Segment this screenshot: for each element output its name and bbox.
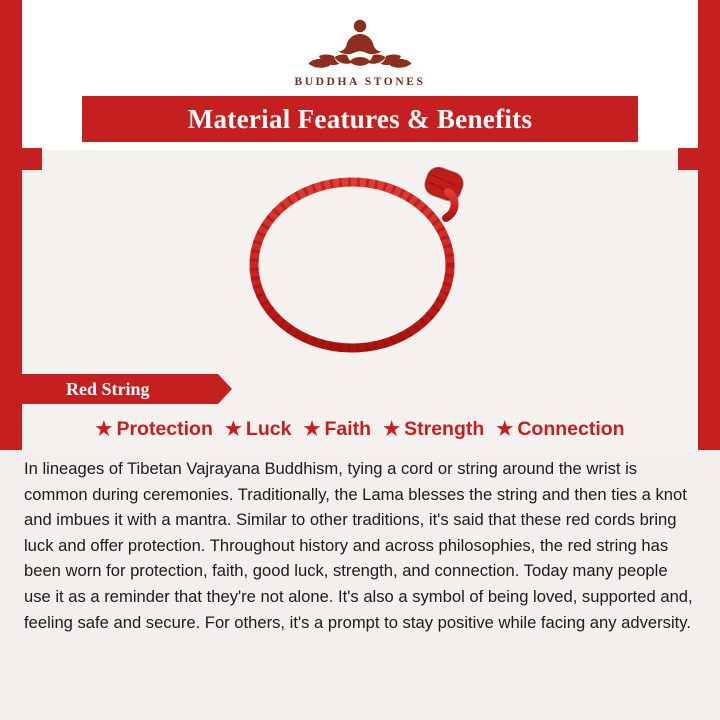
benefit-label: Connection bbox=[517, 418, 624, 441]
benefit-item-connection: ★ Connection bbox=[490, 418, 630, 441]
brand-name: BUDDHA STONES bbox=[0, 76, 720, 88]
brand-logo: BUDDHA STONES bbox=[0, 14, 720, 88]
frame-bar-right-middle bbox=[698, 150, 720, 450]
product-label-ribbon: Red String bbox=[22, 374, 218, 404]
product-label: Red String bbox=[66, 379, 150, 400]
star-icon: ★ bbox=[95, 420, 112, 439]
page-title: Material Features & Benefits bbox=[188, 104, 533, 135]
benefit-label: Faith bbox=[324, 418, 371, 441]
star-icon: ★ bbox=[383, 420, 400, 439]
benefit-item-strength: ★ Strength bbox=[377, 418, 490, 441]
product-image bbox=[22, 152, 698, 372]
frame-bar-left-middle bbox=[0, 150, 22, 450]
star-icon: ★ bbox=[303, 420, 320, 439]
description-text: In lineages of Tibetan Vajrayana Buddhis… bbox=[24, 456, 698, 635]
star-icon: ★ bbox=[496, 420, 513, 439]
infographic-page: BUDDHA STONES Material Features & Benefi… bbox=[0, 0, 720, 720]
benefit-label: Strength bbox=[404, 418, 484, 441]
benefits-list: ★ Protection ★ Luck ★ Faith ★ Strength ★… bbox=[22, 418, 698, 441]
benefit-item-protection: ★ Protection bbox=[89, 418, 218, 441]
lotus-meditation-figure-icon bbox=[300, 14, 420, 74]
benefit-label: Protection bbox=[116, 418, 212, 441]
benefit-item-luck: ★ Luck bbox=[219, 418, 298, 441]
benefit-label: Luck bbox=[246, 418, 292, 441]
section-title-banner: Material Features & Benefits bbox=[82, 96, 638, 142]
star-icon: ★ bbox=[225, 420, 242, 439]
red-string-bracelet-icon bbox=[230, 162, 490, 362]
benefit-item-faith: ★ Faith bbox=[297, 418, 377, 441]
